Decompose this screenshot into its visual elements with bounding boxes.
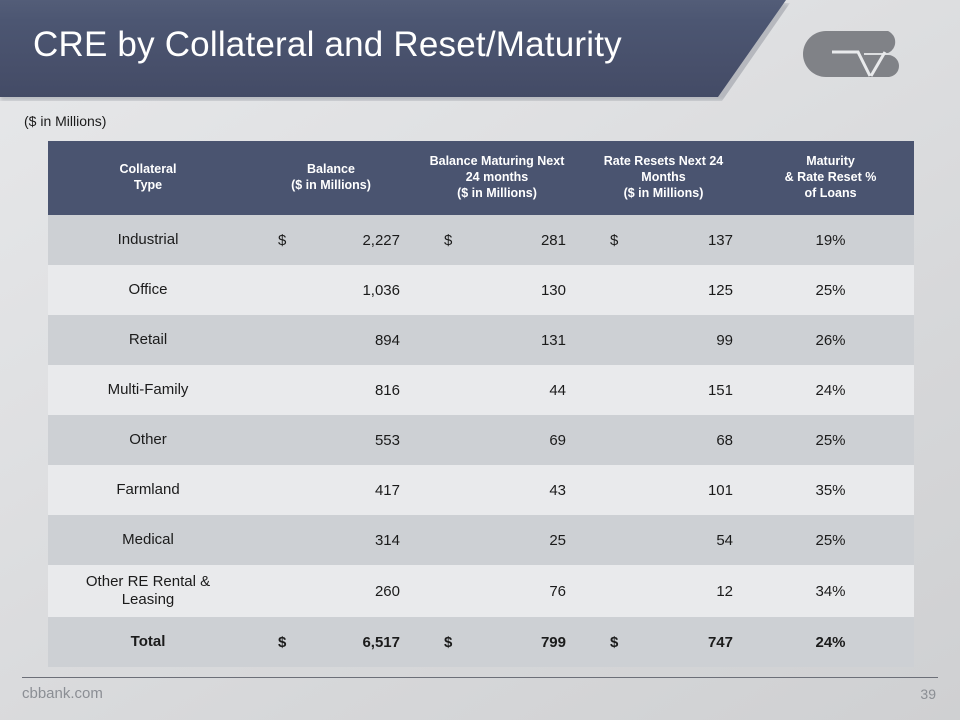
cell-value: 553	[375, 432, 400, 449]
cell-value: 2,227	[362, 232, 400, 249]
cell-value: 417	[375, 482, 400, 499]
cell-resets: 68	[580, 415, 747, 465]
cell-value: 125	[708, 282, 733, 299]
cell-value: 131	[541, 332, 566, 349]
cell-value: 1,036	[362, 282, 400, 299]
row-label: Office	[48, 265, 248, 315]
row-label: Multi-Family	[48, 365, 248, 415]
table-row: Farmland 417 43 101 35%	[48, 465, 914, 515]
cell-value: 43	[549, 482, 566, 499]
cell-pct: 19%	[747, 215, 914, 265]
cell-maturing: 69	[414, 415, 580, 465]
table-total-row: Total $ 6,517 $ 799 $ 747 24%	[48, 617, 914, 667]
cell-value: 68	[716, 432, 733, 449]
cell-pct: 34%	[747, 565, 914, 617]
cvb-logo	[802, 30, 912, 78]
cell-value: 816	[375, 382, 400, 399]
table-row: Other RE Rental & Leasing 260 76 12	[48, 565, 914, 617]
cell-pct: 25%	[747, 515, 914, 565]
cell-value: 69	[549, 432, 566, 449]
header-line: ($ in Millions)	[580, 186, 747, 202]
column-header-balance-maturing-next-24-months: Balance Maturing Next 24 months ($ in Mi…	[414, 141, 580, 215]
cell-maturing: 131	[414, 315, 580, 365]
cell-pct: 35%	[747, 465, 914, 515]
cell-balance: 816	[248, 365, 414, 415]
cell-balance: 314	[248, 515, 414, 565]
cell-value: 25	[549, 532, 566, 549]
table-row: Industrial $ 2,227 $ 281 $ 137 19%	[48, 215, 914, 265]
cell-maturing: $ 281	[414, 215, 580, 265]
cell-value: 54	[716, 532, 733, 549]
cell-value: 101	[708, 482, 733, 499]
row-label: Total	[48, 617, 248, 667]
footer-website: cbbank.com	[22, 685, 103, 702]
cell-maturing: 43	[414, 465, 580, 515]
column-header-rate-resets-next-24-months: Rate Resets Next 24 Months ($ in Million…	[580, 141, 747, 215]
cell-balance: 894	[248, 315, 414, 365]
units-caption: ($ in Millions)	[24, 113, 106, 129]
table-row: Retail 894 131 99 26%	[48, 315, 914, 365]
footer-divider	[22, 677, 938, 678]
cell-maturing: 130	[414, 265, 580, 315]
cell-pct: 25%	[747, 415, 914, 465]
row-label: Industrial	[48, 215, 248, 265]
cell-value: 137	[708, 232, 733, 249]
cell-resets: 125	[580, 265, 747, 315]
cell-value: 99	[716, 332, 733, 349]
cell-maturing: 76	[414, 565, 580, 617]
row-label: Farmland	[48, 465, 248, 515]
cell-value: 314	[375, 532, 400, 549]
slide-page-number: 39	[920, 686, 936, 702]
cell-value: 799	[541, 634, 566, 651]
cell-value: 260	[375, 583, 400, 600]
cell-maturing: 25	[414, 515, 580, 565]
cell-pct: 24%	[747, 365, 914, 415]
header-line: Rate Resets Next 24	[580, 154, 747, 170]
header-line: & Rate Reset %	[747, 170, 914, 186]
cell-value: 281	[541, 232, 566, 249]
header-line: Months	[580, 170, 747, 186]
cell-pct: 24%	[747, 617, 914, 667]
cell-value: 151	[708, 382, 733, 399]
cell-pct: 25%	[747, 265, 914, 315]
cell-resets: 101	[580, 465, 747, 515]
cell-balance: 260	[248, 565, 414, 617]
currency-symbol: $	[444, 232, 452, 249]
cell-value: 130	[541, 282, 566, 299]
currency-symbol: $	[610, 634, 618, 651]
header-line: Balance Maturing Next	[414, 154, 580, 170]
column-header-maturity-rate-reset-pct: Maturity & Rate Reset % of Loans	[747, 141, 914, 215]
table-body: Industrial $ 2,227 $ 281 $ 137 19%	[48, 215, 914, 667]
header-line: ($ in Millions)	[414, 186, 580, 202]
row-label: Retail	[48, 315, 248, 365]
row-label-line: Leasing	[58, 591, 238, 609]
cell-balance: 1,036	[248, 265, 414, 315]
cell-resets: $ 747	[580, 617, 747, 667]
table-row: Office 1,036 130 125 25%	[48, 265, 914, 315]
cell-maturing: 44	[414, 365, 580, 415]
table-row: Multi-Family 816 44 151 24%	[48, 365, 914, 415]
cell-value: 76	[549, 583, 566, 600]
cell-resets: 12	[580, 565, 747, 617]
table-header-row: Collateral Type Balance ($ in Millions) …	[48, 141, 914, 215]
header-line: Collateral	[48, 162, 248, 178]
cell-value: 6,517	[362, 634, 400, 651]
header-line: Balance	[248, 162, 414, 178]
cre-collateral-table: Collateral Type Balance ($ in Millions) …	[48, 141, 914, 667]
cell-value: 12	[716, 583, 733, 600]
cell-balance: 417	[248, 465, 414, 515]
column-header-collateral-type: Collateral Type	[48, 141, 248, 215]
row-label-line: Other RE Rental &	[58, 573, 238, 591]
header-line: Type	[48, 178, 248, 194]
currency-symbol: $	[610, 232, 618, 249]
cell-resets: 54	[580, 515, 747, 565]
row-label: Medical	[48, 515, 248, 565]
cell-resets: 151	[580, 365, 747, 415]
cell-balance: $ 6,517	[248, 617, 414, 667]
currency-symbol: $	[278, 232, 286, 249]
page-title: CRE by Collateral and Reset/Maturity	[33, 25, 622, 65]
cell-value: 747	[708, 634, 733, 651]
header-line: of Loans	[747, 186, 914, 202]
table-row: Medical 314 25 54 25%	[48, 515, 914, 565]
row-label: Other RE Rental & Leasing	[48, 565, 248, 617]
cell-maturing: $ 799	[414, 617, 580, 667]
header-line: 24 months	[414, 170, 580, 186]
row-label: Other	[48, 415, 248, 465]
table-header: Collateral Type Balance ($ in Millions) …	[48, 141, 914, 215]
currency-symbol: $	[444, 634, 452, 651]
currency-symbol: $	[278, 634, 286, 651]
column-header-balance: Balance ($ in Millions)	[248, 141, 414, 215]
cell-resets: 99	[580, 315, 747, 365]
header-line: Maturity	[747, 154, 914, 170]
cell-value: 44	[549, 382, 566, 399]
cell-pct: 26%	[747, 315, 914, 365]
cell-resets: $ 137	[580, 215, 747, 265]
table-row: Other 553 69 68 25%	[48, 415, 914, 465]
header-line: ($ in Millions)	[248, 178, 414, 194]
cell-value: 894	[375, 332, 400, 349]
cell-balance: 553	[248, 415, 414, 465]
cell-balance: $ 2,227	[248, 215, 414, 265]
